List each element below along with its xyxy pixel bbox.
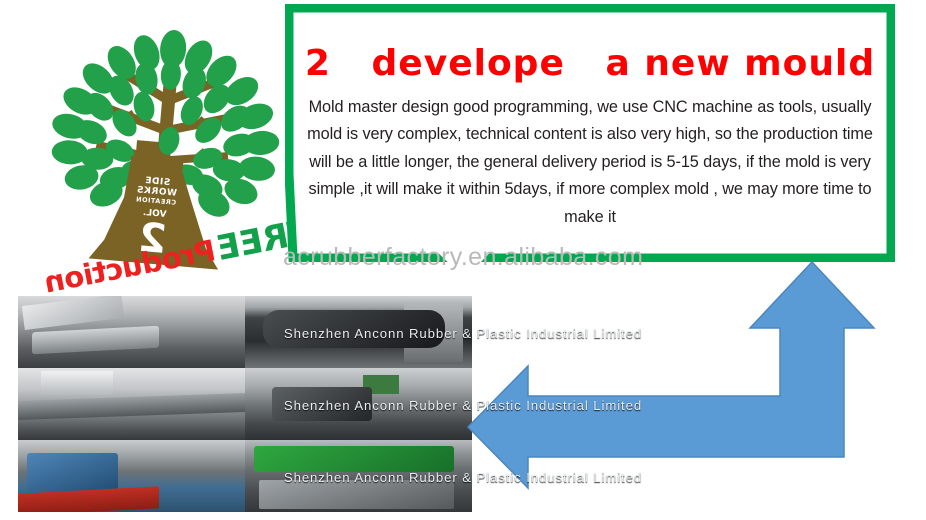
green-speech-callout: 2 develope a new mould Mold master desig… xyxy=(285,4,895,262)
collage-photo-3 xyxy=(18,368,245,440)
poster-canvas: SIDE WORKS CREATION VOL. 2 TREE Producti… xyxy=(0,0,926,520)
callout-body-text: Mold master design good programming, we … xyxy=(306,94,874,231)
collage-photo-1 xyxy=(18,296,245,368)
collage-photo-6 xyxy=(245,440,472,512)
collage-photo-4 xyxy=(245,368,472,440)
collage-photo-5 xyxy=(18,440,245,512)
bent-flow-arrow xyxy=(462,250,926,518)
callout-title: 2 develope a new mould xyxy=(305,46,875,82)
collage-photo-2 xyxy=(245,296,472,368)
factory-photo-collage xyxy=(18,296,472,512)
brand-word-production: Production xyxy=(42,233,219,299)
bent-flow-arrow-shape xyxy=(462,250,926,518)
